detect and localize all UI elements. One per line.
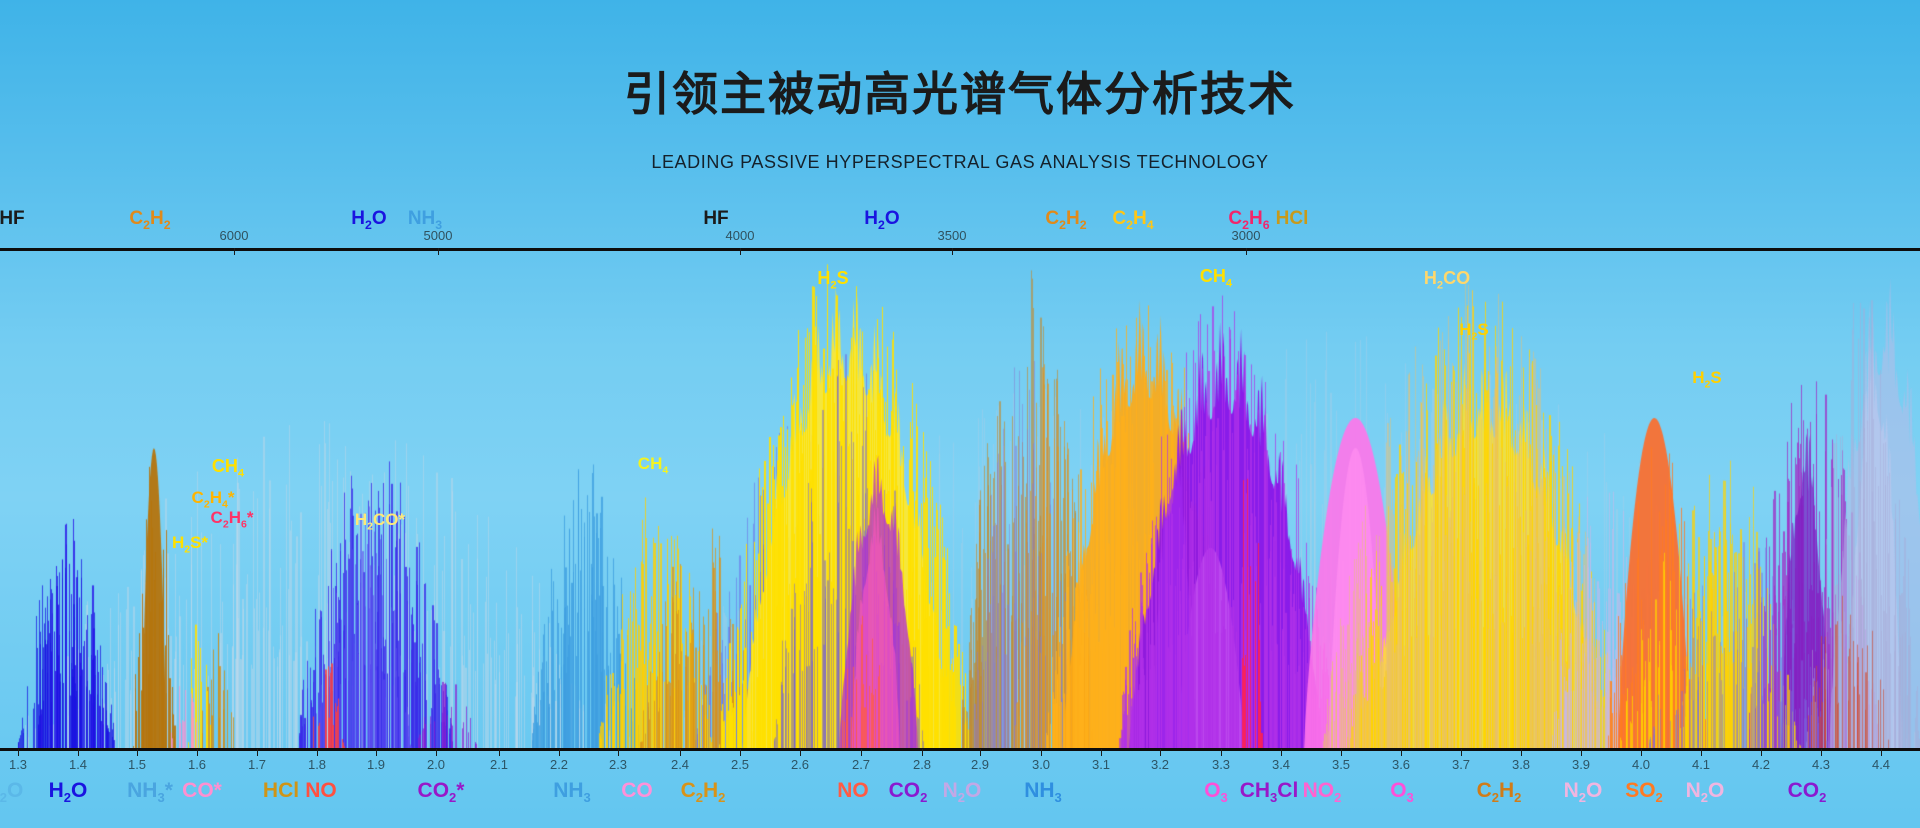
bottom-tick-mark xyxy=(376,749,377,756)
top-gas-label: NH3 xyxy=(408,208,442,232)
bottom-tick-label: 3.1 xyxy=(1092,757,1110,772)
bottom-gas-label: NH3 xyxy=(1024,779,1062,805)
bottom-tick-label: 2.4 xyxy=(671,757,689,772)
bottom-tick-mark xyxy=(1221,749,1222,756)
bottom-tick-mark xyxy=(680,749,681,756)
bottom-tick-label: 3.5 xyxy=(1332,757,1350,772)
bottom-tick-mark xyxy=(1341,749,1342,756)
bottom-gas-label: C2H2 xyxy=(1477,779,1522,805)
bottom-gas-label: NO2 xyxy=(1303,779,1342,805)
top-tick-mark xyxy=(234,248,235,255)
bottom-gas-label: NO xyxy=(837,779,869,803)
inplot-gas-label: CH4 xyxy=(638,454,668,476)
bottom-tick-label: 4.1 xyxy=(1692,757,1710,772)
bottom-tick-label: 2.6 xyxy=(791,757,809,772)
bottom-tick-label: 3.7 xyxy=(1452,757,1470,772)
inplot-gas-label: CH4 xyxy=(1200,266,1232,290)
bottom-tick-mark xyxy=(1821,749,1822,756)
bottom-tick-label: 2.5 xyxy=(731,757,749,772)
bottom-tick-mark xyxy=(257,749,258,756)
top-tick-label: 3500 xyxy=(938,228,967,243)
bottom-gas-label: NO xyxy=(305,779,337,803)
top-tick-mark xyxy=(438,248,439,255)
bottom-tick-label: 1.9 xyxy=(367,757,385,772)
bottom-tick-label: 4.0 xyxy=(1632,757,1650,772)
bottom-gas-label: CO2 xyxy=(889,779,928,805)
bottom-tick-mark xyxy=(861,749,862,756)
bottom-tick-mark xyxy=(317,749,318,756)
bottom-tick-label: 2.2 xyxy=(550,757,568,772)
bottom-tick-label: 1.4 xyxy=(69,757,87,772)
bottom-tick-mark xyxy=(1761,749,1762,756)
bottom-gas-label: CO2* xyxy=(418,779,465,805)
bottom-tick-label: 3.8 xyxy=(1512,757,1530,772)
bottom-tick-mark xyxy=(436,749,437,756)
bottom-tick-label: 3.9 xyxy=(1572,757,1590,772)
bottom-gas-label: HCl xyxy=(263,779,299,803)
bottom-tick-label: 1.7 xyxy=(248,757,266,772)
bottom-tick-label: 3.4 xyxy=(1272,757,1290,772)
bottom-tick-label: 1.5 xyxy=(128,757,146,772)
page-title: 引领主被动高光谱气体分析技术 xyxy=(0,58,1920,124)
bottom-gas-label: N2O xyxy=(1686,779,1725,805)
bottom-tick-mark xyxy=(800,749,801,756)
bottom-tick-label: 2.0 xyxy=(427,757,445,772)
top-tick-mark xyxy=(740,248,741,255)
bottom-tick-label: 3.2 xyxy=(1151,757,1169,772)
top-gas-label: H2O xyxy=(351,208,386,232)
bottom-tick-label: 2.8 xyxy=(913,757,931,772)
bottom-tick-mark xyxy=(18,749,19,756)
top-gas-label: HF xyxy=(703,208,728,230)
bottom-gas-label: SO2 xyxy=(1625,779,1663,805)
inplot-gas-label: H2S xyxy=(1692,368,1721,390)
top-gas-label: H2O xyxy=(864,208,899,232)
inplot-gas-label: H2CO xyxy=(1424,268,1470,292)
top-gas-label: C2H2 xyxy=(1045,208,1086,232)
bottom-gas-label: O3 xyxy=(1204,779,1228,805)
bottom-gas-label: CO* xyxy=(182,779,222,803)
top-tick-mark xyxy=(1246,248,1247,255)
bottom-tick-mark xyxy=(1401,749,1402,756)
inplot-gas-label: CH4 xyxy=(212,456,244,480)
bottom-tick-label: 4.2 xyxy=(1752,757,1770,772)
bottom-gas-label: H2O xyxy=(49,779,88,805)
bottom-tick-mark xyxy=(1701,749,1702,756)
bottom-tick-label: 3.0 xyxy=(1032,757,1050,772)
bottom-gas-label: NH3 xyxy=(553,779,591,805)
bottom-gas-label: O3 xyxy=(1390,779,1414,805)
bottom-gas-label: CO2 xyxy=(1788,779,1827,805)
bottom-tick-mark xyxy=(1041,749,1042,756)
bottom-tick-mark xyxy=(197,749,198,756)
bottom-tick-mark xyxy=(499,749,500,756)
inplot-gas-label: H2CO* xyxy=(355,510,405,532)
bottom-tick-mark xyxy=(1581,749,1582,756)
bottom-tick-label: 2.9 xyxy=(971,757,989,772)
top-tick-mark xyxy=(952,248,953,255)
bottom-tick-label: 2.7 xyxy=(852,757,870,772)
bottom-gas-label: NH3* xyxy=(127,779,173,805)
top-gas-label: HCl xyxy=(1276,208,1309,230)
top-gas-label: C2H2 xyxy=(129,208,170,232)
bottom-tick-mark xyxy=(980,749,981,756)
bottom-tick-label: 1.8 xyxy=(308,757,326,772)
bottom-axis-line xyxy=(0,748,1920,751)
bottom-tick-label: 1.3 xyxy=(9,757,27,772)
bottom-tick-mark xyxy=(78,749,79,756)
bottom-tick-mark xyxy=(1461,749,1462,756)
top-gas-label: C2H4 xyxy=(1112,208,1153,232)
bottom-gas-label: N2O xyxy=(0,779,23,805)
spectrum-plot xyxy=(0,248,1920,748)
inplot-gas-label: H2S* xyxy=(172,533,208,555)
bottom-tick-mark xyxy=(922,749,923,756)
page-subtitle: LEADING PASSIVE HYPERSPECTRAL GAS ANALYS… xyxy=(0,152,1920,173)
top-tick-label: 4000 xyxy=(726,228,755,243)
bottom-gas-label: N2O xyxy=(1564,779,1603,805)
bottom-tick-mark xyxy=(1641,749,1642,756)
inplot-gas-label: H2S xyxy=(1459,320,1488,342)
top-gas-label: HF xyxy=(0,208,25,230)
inplot-gas-label: C2H6* xyxy=(211,508,254,530)
bottom-gas-label: C2H2 xyxy=(681,779,726,805)
bottom-tick-mark xyxy=(1160,749,1161,756)
bottom-tick-label: 3.3 xyxy=(1212,757,1230,772)
spectrum-canvas xyxy=(0,248,1920,748)
top-tick-label: 6000 xyxy=(220,228,249,243)
bottom-tick-label: 4.4 xyxy=(1872,757,1890,772)
bottom-gas-label: N2O xyxy=(943,779,982,805)
bottom-tick-mark xyxy=(559,749,560,756)
header-banner: 引领主被动高光谱气体分析技术 LEADING PASSIVE HYPERSPEC… xyxy=(0,0,1920,200)
bottom-tick-mark xyxy=(618,749,619,756)
bottom-tick-label: 3.6 xyxy=(1392,757,1410,772)
bottom-tick-mark xyxy=(1281,749,1282,756)
top-gas-label: C2H6 xyxy=(1228,208,1269,232)
bottom-tick-label: 4.3 xyxy=(1812,757,1830,772)
inplot-gas-label: H2S xyxy=(817,268,848,292)
bottom-tick-mark xyxy=(1101,749,1102,756)
bottom-gas-label: CO xyxy=(621,779,653,803)
bottom-tick-label: 1.6 xyxy=(188,757,206,772)
bottom-tick-mark xyxy=(1881,749,1882,756)
bottom-tick-mark xyxy=(137,749,138,756)
bottom-gas-label: CH3Cl xyxy=(1240,779,1299,805)
bottom-tick-mark xyxy=(740,749,741,756)
bottom-tick-label: 2.1 xyxy=(490,757,508,772)
bottom-tick-mark xyxy=(1521,749,1522,756)
bottom-tick-label: 2.3 xyxy=(609,757,627,772)
